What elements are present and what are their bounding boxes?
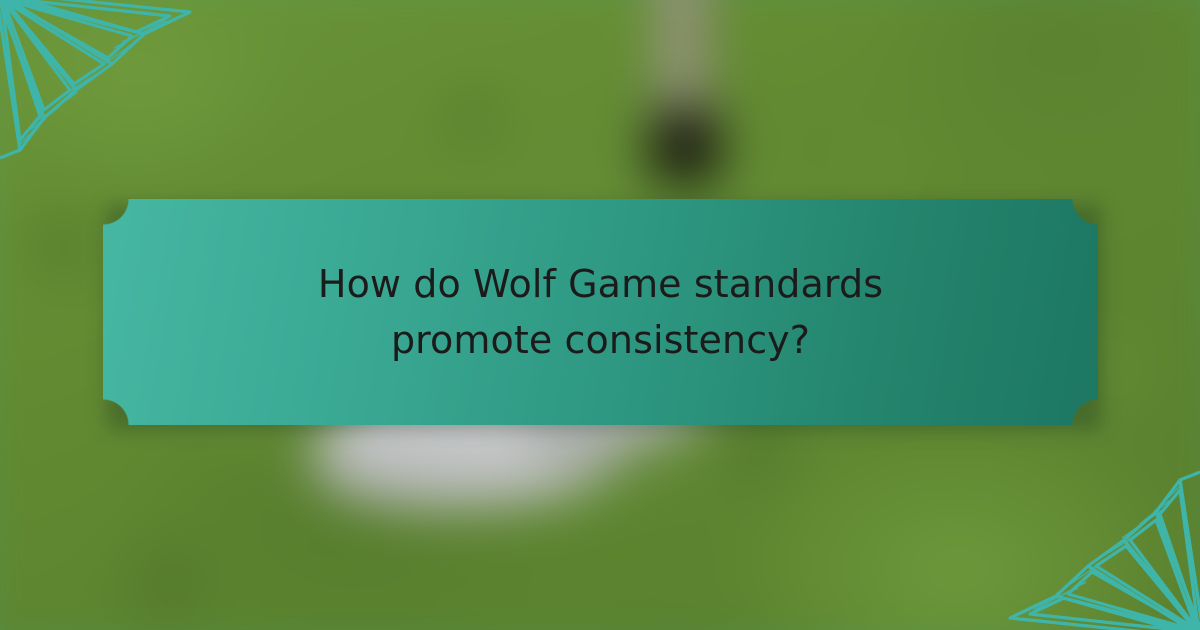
quote-text: How do Wolf Game standards promote consi… [251,256,951,368]
quote-card: How do Wolf Game standards promote consi… [103,199,1098,425]
screenshot-canvas: How do Wolf Game standards promote consi… [0,0,1200,630]
golf-club-hosel [652,110,718,182]
quote-line-2: consistency? [565,318,811,362]
